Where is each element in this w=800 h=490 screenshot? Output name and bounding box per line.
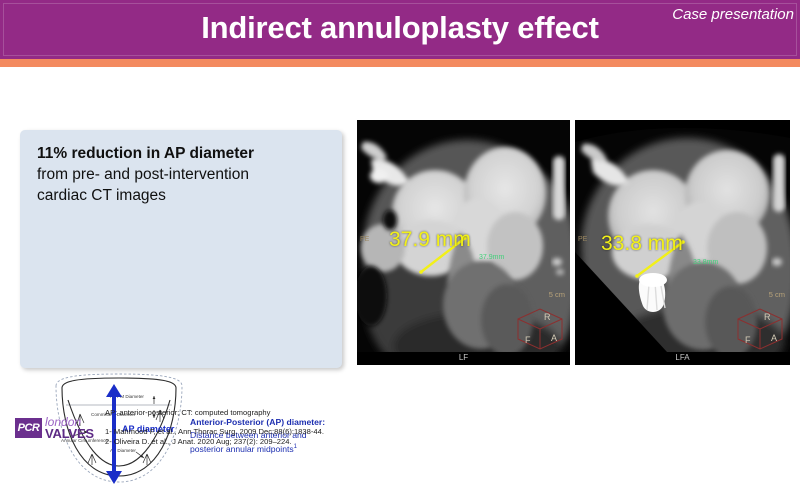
- ct-scale-label-post: 5 cm: [769, 290, 785, 299]
- orientation-cube-icon-post: R F A: [734, 305, 786, 351]
- ct-series-label-post: PE: [578, 236, 587, 243]
- header-band: Indirect annuloplasty effect Case presen…: [0, 0, 800, 59]
- info-heading: 11% reduction in AP diameter: [37, 143, 327, 164]
- info-line-2: from pre- and post-intervention: [37, 164, 327, 185]
- ct-image-post-intervention[interactable]: 33.8 mm 33.8mm 5 cm PE LFA R F A: [575, 120, 790, 365]
- pcr-badge: PCR: [15, 418, 42, 438]
- ct-measurement-small-post: 33.8mm: [693, 258, 718, 267]
- ct-measurement-post: 33.8 mm: [601, 232, 683, 256]
- footnote-abbreviations: AP: anterior-posterior; CT: computed tom…: [105, 408, 525, 419]
- orientation-label-left-pre: F: [525, 335, 531, 345]
- ct-scale-label-pre: 5 cm: [549, 290, 565, 299]
- ct-bottom-label-pre: LF: [357, 353, 570, 362]
- info-line-3: cardiac CT images: [37, 185, 327, 206]
- orientation-label-right-post: A: [771, 333, 777, 343]
- ct-series-label-pre: PE: [360, 236, 369, 243]
- orientation-cube-icon-pre: R F A: [514, 305, 566, 351]
- logo-valves-text: VALVES: [45, 427, 94, 441]
- info-text-block: 11% reduction in AP diameter from pre- a…: [37, 143, 327, 206]
- ct-bottom-label-post: LFA: [575, 353, 790, 362]
- pcr-london-valves-logo: PCR london VALVES: [15, 416, 97, 442]
- ct-measurement-pre: 37.9 mm: [389, 228, 471, 252]
- orientation-label-left-post: F: [745, 335, 751, 345]
- footnote-reference-1: 1- Mahmood F, et al., Ann Thorac Surg. 2…: [105, 427, 525, 438]
- info-callout-box: 11% reduction in AP diameter from pre- a…: [20, 130, 342, 368]
- orientation-label-top-post: R: [764, 312, 771, 322]
- accent-stripe: [0, 59, 800, 67]
- footnote-reference-2: 2- Oliveira D. et al., J Anat. 2020 Aug;…: [105, 437, 525, 448]
- orientation-label-top-pre: R: [544, 312, 551, 322]
- orientation-label-right-pre: A: [551, 333, 557, 343]
- section-label: Case presentation: [672, 5, 794, 25]
- ct-image-pre-intervention[interactable]: 37.9 mm 37.9mm 5 cm PE LF R F A: [357, 120, 570, 365]
- footnotes: AP: anterior-posterior; CT: computed tom…: [105, 408, 525, 448]
- ct-measurement-small-pre: 37.9mm: [479, 253, 504, 262]
